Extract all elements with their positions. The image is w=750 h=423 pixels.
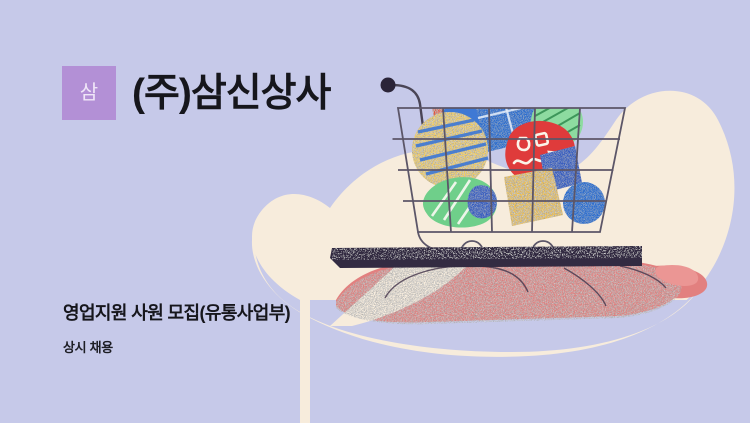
employment-type: 상시 채용 <box>63 341 113 354</box>
job-title: 영업지원 사원 모집(유통사업부) <box>63 304 290 322</box>
job-posting-banner: 삼 (주)삼신상사 영업지원 사원 모집(유통사업부) 상시 채용 <box>0 0 750 423</box>
text-content: 삼 (주)삼신상사 영업지원 사원 모집(유통사업부) 상시 채용 <box>0 0 750 423</box>
company-name: (주)삼신상사 <box>132 74 330 113</box>
company-logo-badge: 삼 <box>62 66 116 120</box>
brand-row: 삼 (주)삼신상사 <box>62 66 330 120</box>
